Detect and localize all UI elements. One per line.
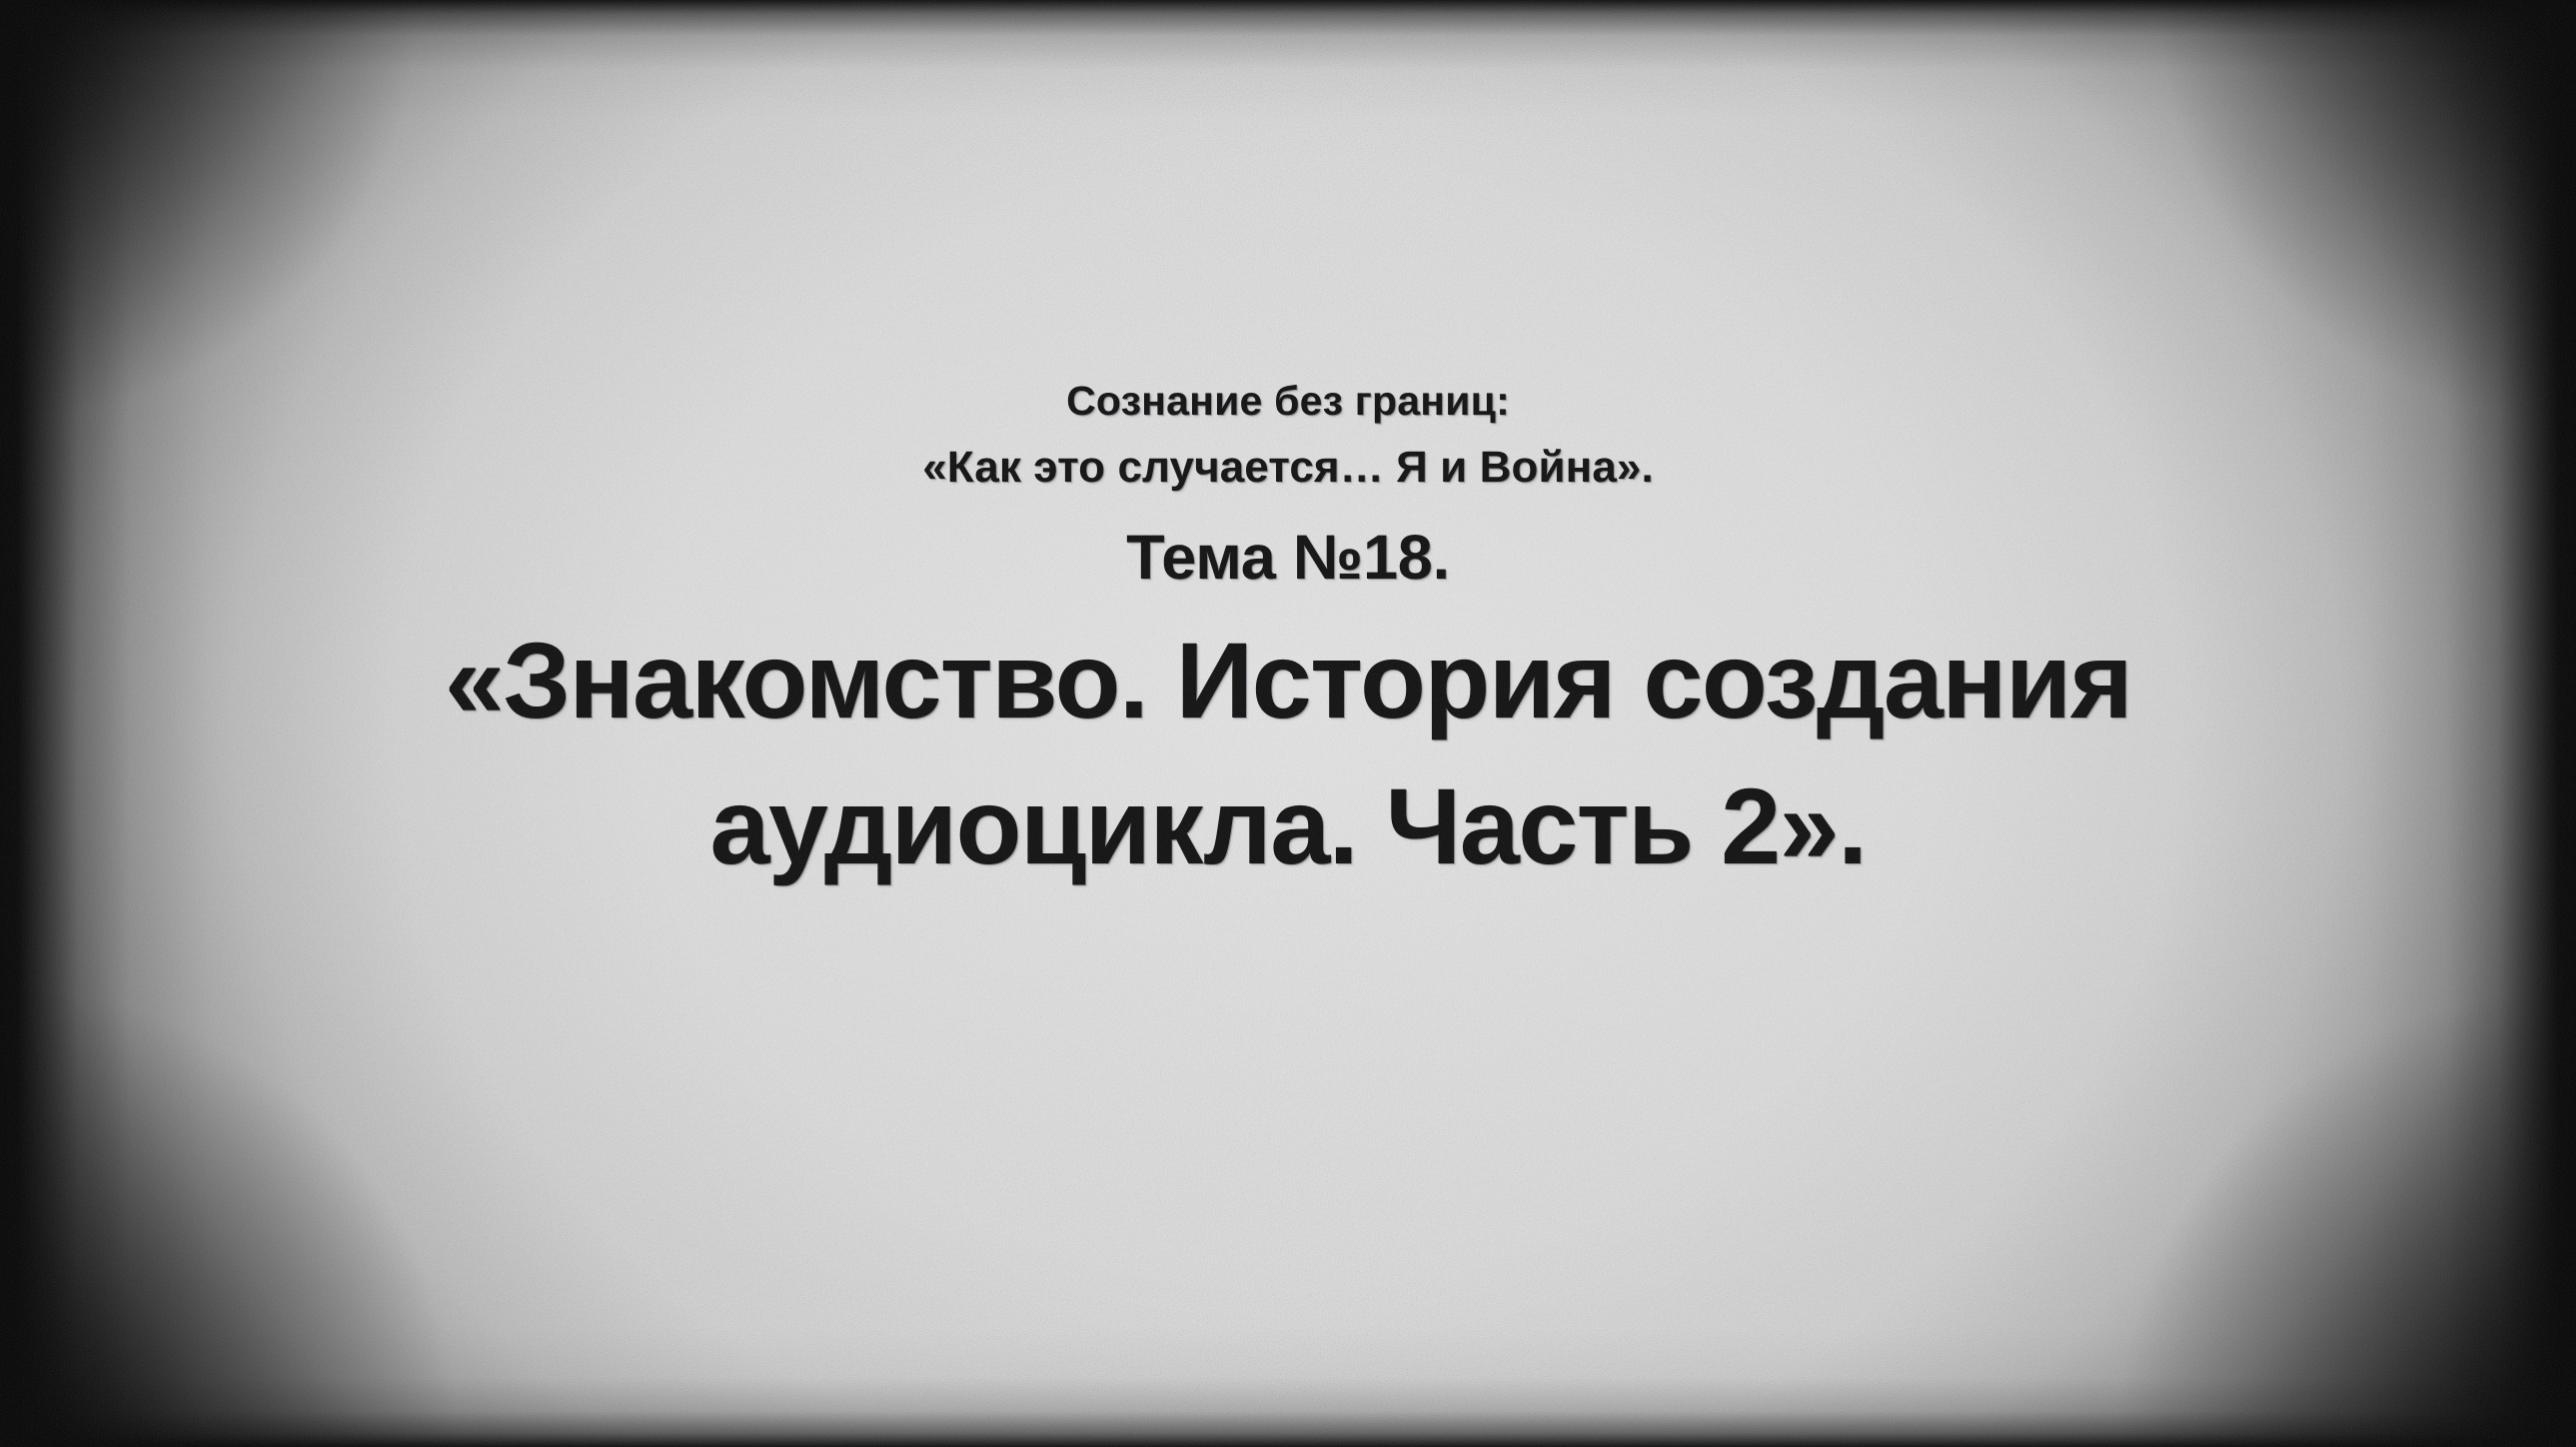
slide-canvas: Сознание без границ: «Как это случается…… [0, 0, 2576, 1447]
vignette-top-bottom [0, 0, 2576, 1447]
